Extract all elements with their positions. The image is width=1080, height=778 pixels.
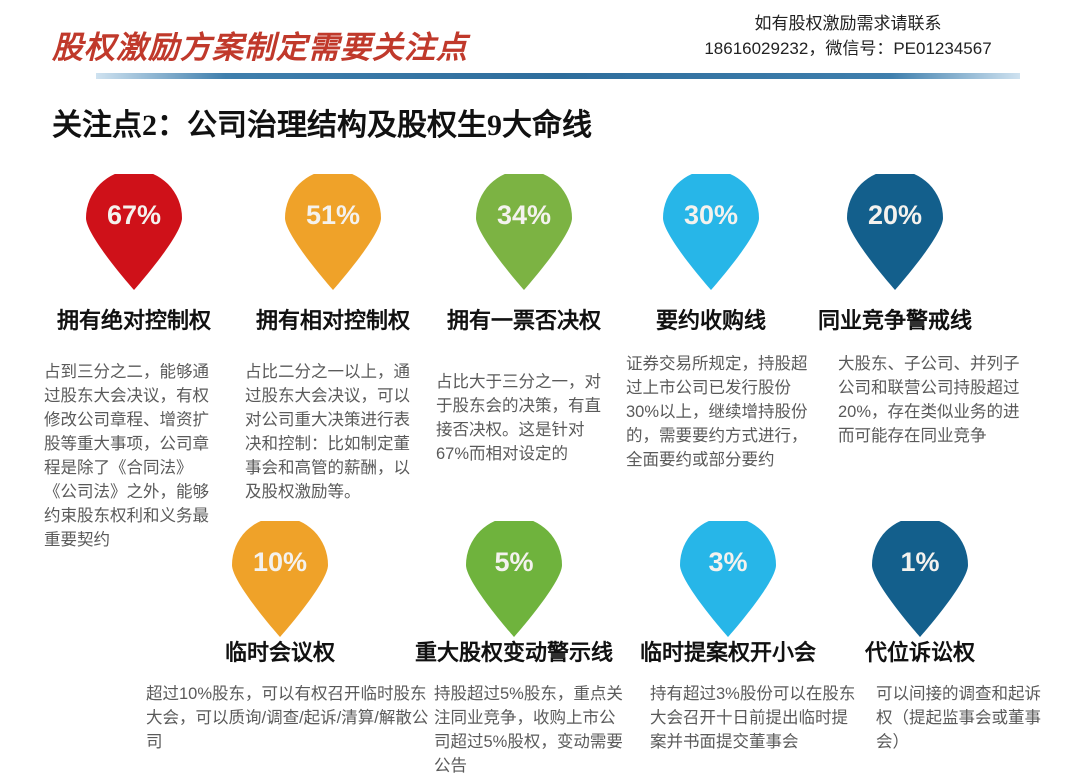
page-header: 股权激励方案制定需要关注点 如有股权激励需求请联系 18616029232，微信… — [0, 0, 1080, 80]
pin-label-5: 重大股权变动警示线 — [412, 635, 616, 667]
pin-description-67: 占到三分之二，能够通过股东大会决议，有权修改公司章程、增资扩股等重大事项，公司章… — [44, 360, 216, 552]
pin-label-67: 拥有绝对控制权 — [44, 303, 224, 335]
pin-marker-67[interactable]: 67% — [86, 174, 182, 290]
map-pin-icon — [232, 521, 328, 637]
pin-description-51: 占比二分之一以上，通过股东大会决议，可以对公司重大决策进行表决和控制：比如制定董… — [245, 360, 423, 504]
contact-prompt: 如有股权激励需求请联系 — [638, 12, 1058, 36]
contact-details: 18616029232，微信号：PE01234567 — [638, 36, 1058, 62]
pin-label-3: 临时提案权开小会 — [638, 635, 818, 667]
pin-marker-30[interactable]: 30% — [663, 174, 759, 290]
map-pin-icon — [285, 174, 381, 290]
pin-marker-34[interactable]: 34% — [476, 174, 572, 290]
pin-marker-3[interactable]: 3% — [680, 521, 776, 637]
pin-description-20: 大股东、子公司、并列子公司和联营公司持股超过20%，存在类似业务的进而可能存在同… — [838, 352, 1028, 448]
pin-marker-5[interactable]: 5% — [466, 521, 562, 637]
page-title: 股权激励方案制定需要关注点 — [52, 22, 468, 67]
pin-marker-10[interactable]: 10% — [232, 521, 328, 637]
pin-label-34: 拥有一票否决权 — [434, 303, 614, 335]
contact-block: 如有股权激励需求请联系 18616029232，微信号：PE01234567 — [638, 12, 1058, 62]
pin-description-5: 持股超过5%股东，重点关注同业竞争，收购上市公司超过5%股权，变动需要公告 — [434, 682, 630, 778]
map-pin-icon — [872, 521, 968, 637]
pin-marker-20[interactable]: 20% — [847, 174, 943, 290]
map-pin-icon — [663, 174, 759, 290]
pin-label-30: 要约收购线 — [644, 303, 778, 335]
pin-label-20: 同业竞争警戒线 — [805, 303, 985, 335]
pin-description-30: 证券交易所规定，持股超过上市公司已发行股份30%以上，继续增持股份的，需要要约方… — [626, 352, 822, 472]
map-pin-icon — [466, 521, 562, 637]
pin-marker-51[interactable]: 51% — [285, 174, 381, 290]
section-heading: 关注点2：公司治理结构及股权生9大命线 — [52, 100, 592, 144]
pin-label-51: 拥有相对控制权 — [243, 303, 423, 335]
pin-label-10: 临时会议权 — [190, 635, 370, 667]
map-pin-icon — [86, 174, 182, 290]
map-pin-icon — [476, 174, 572, 290]
pin-marker-1[interactable]: 1% — [872, 521, 968, 637]
pin-description-1: 可以间接的调查和起诉权（提起监事会或董事会） — [876, 682, 1044, 754]
pin-description-34: 占比大于三分之一，对于股东会的决策，有直接否决权。这是针对67%而相对设定的 — [436, 370, 612, 466]
header-divider — [96, 73, 1020, 79]
map-pin-icon — [680, 521, 776, 637]
pin-description-10: 超过10%股东，可以有权召开临时股东大会，可以质询/调查/起诉/清算/解散公司 — [146, 682, 430, 754]
map-pin-icon — [847, 174, 943, 290]
pin-description-3: 持有超过3%股份可以在股东大会召开十日前提出临时提案并书面提交董事会 — [650, 682, 862, 754]
pin-label-1: 代位诉讼权 — [852, 635, 988, 667]
